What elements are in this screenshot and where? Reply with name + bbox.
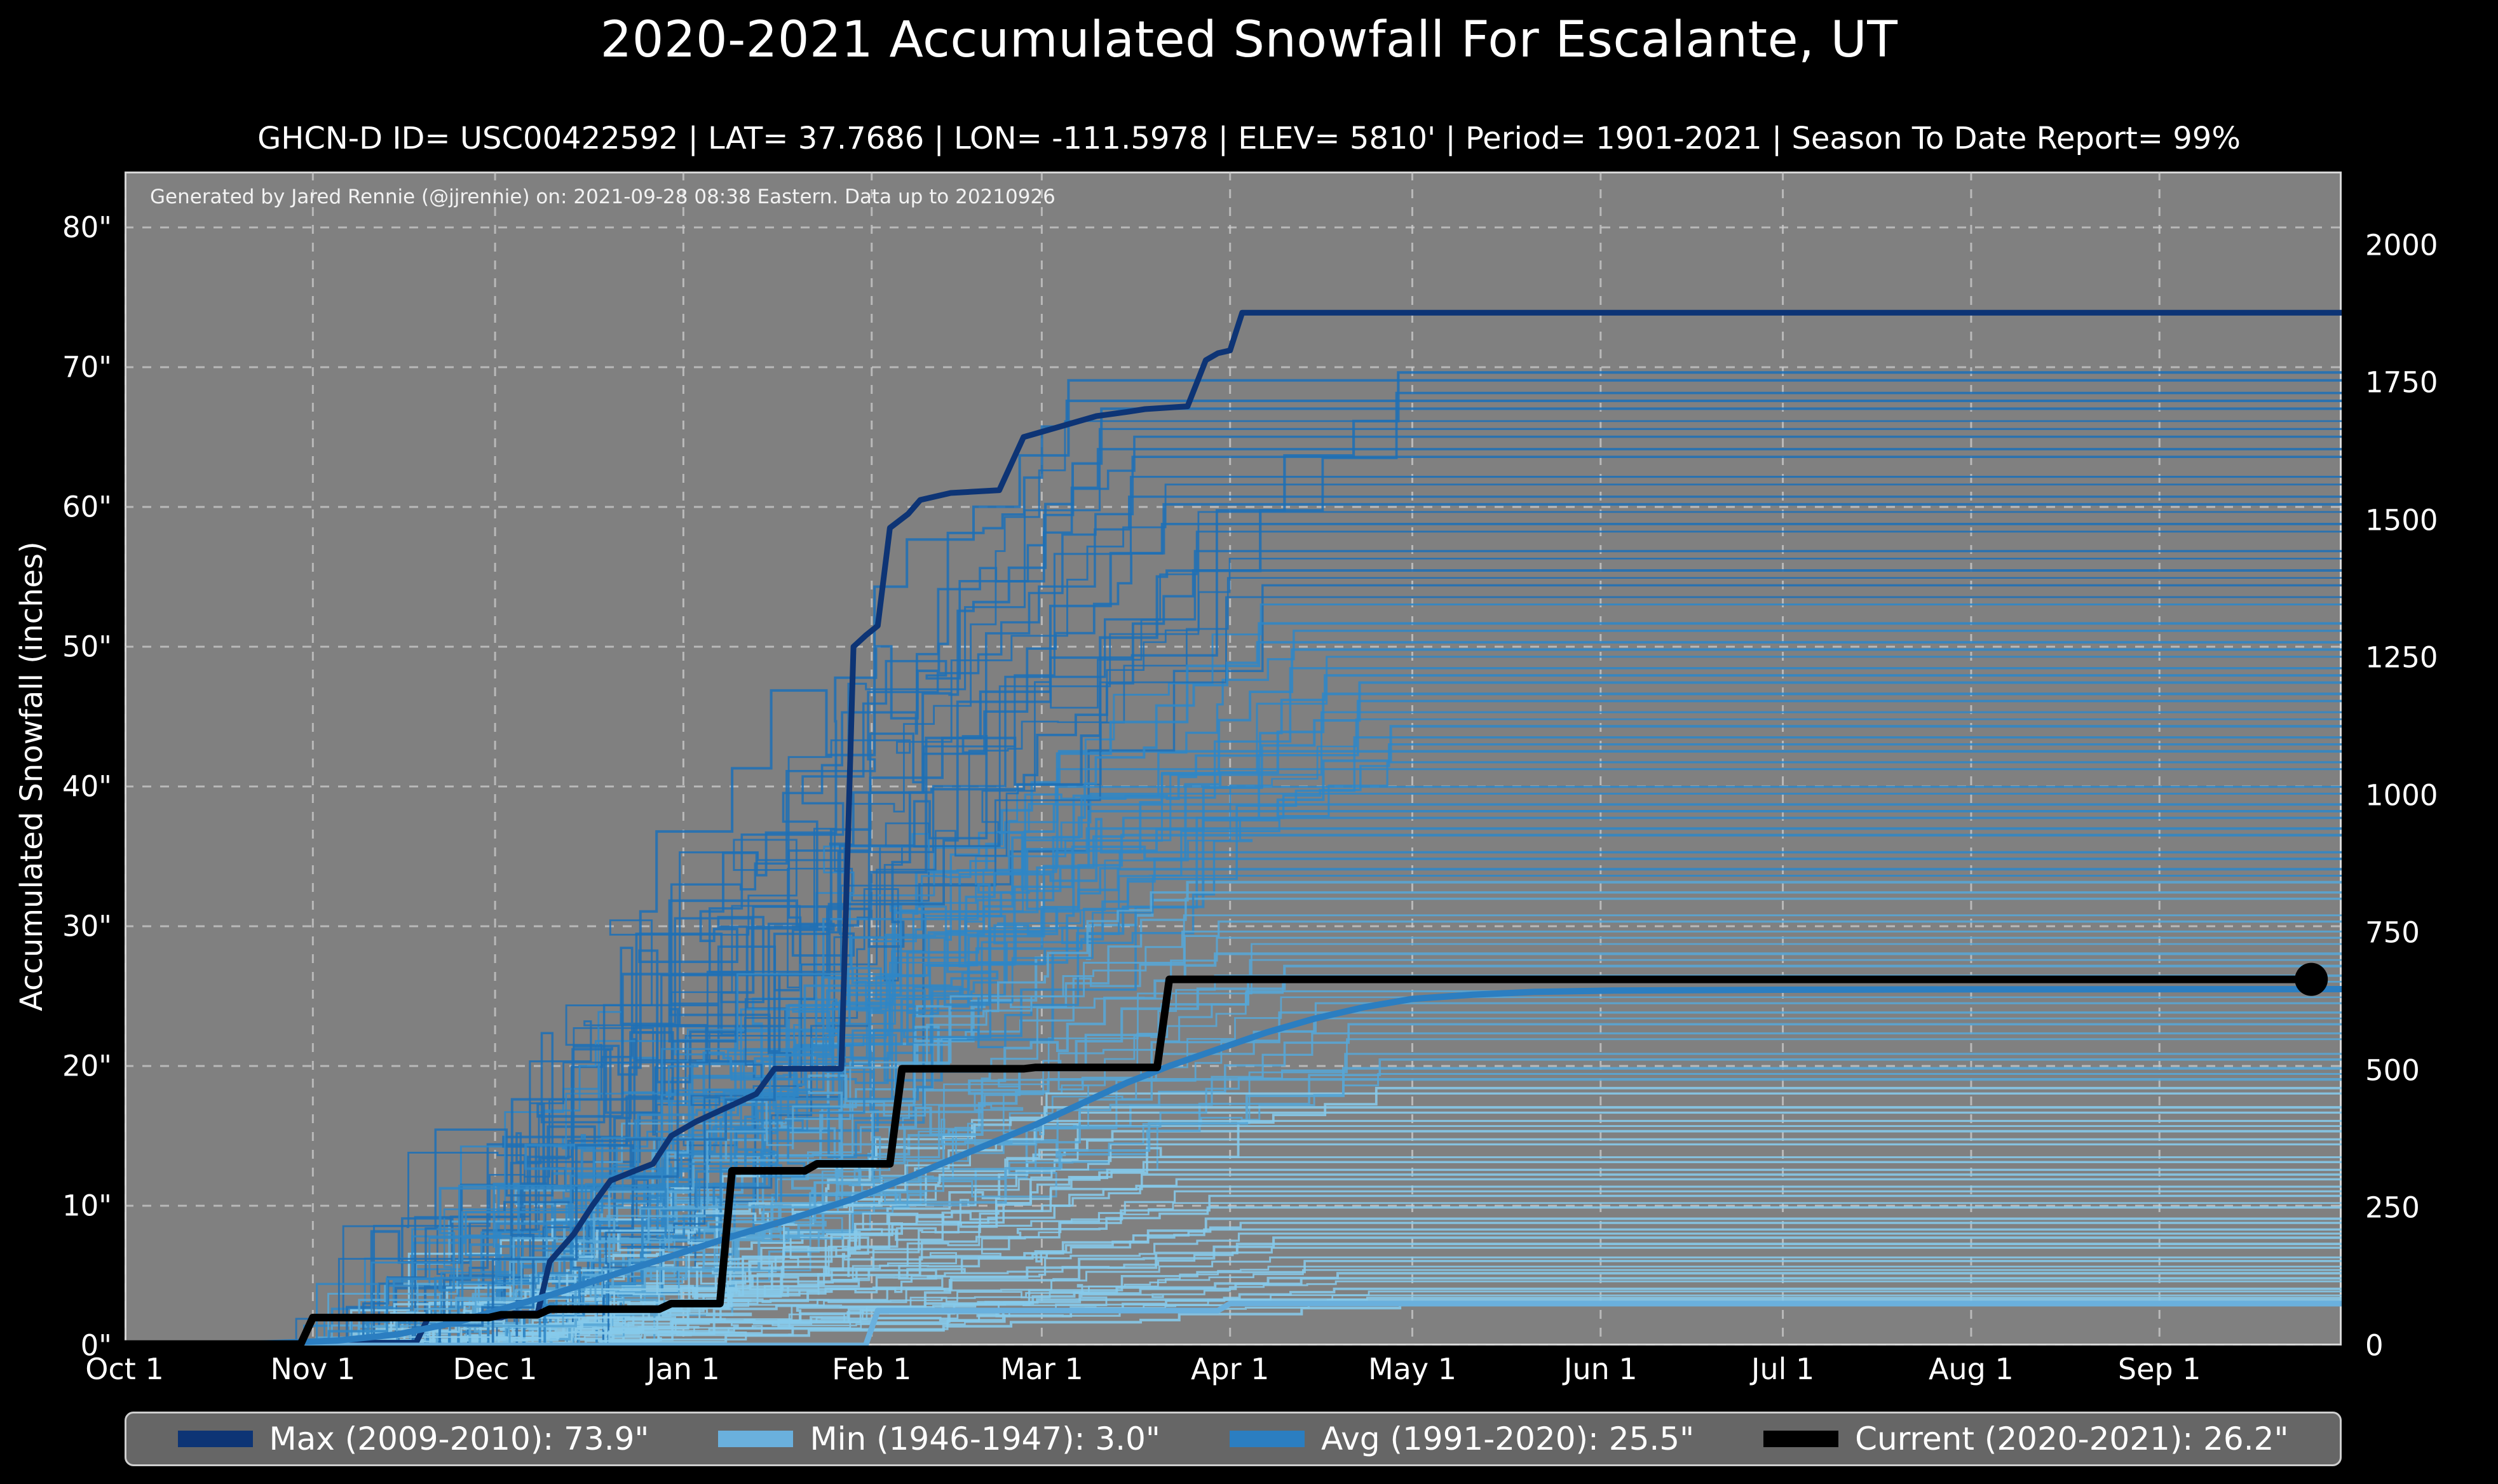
y-tick-left-80: 80" xyxy=(62,211,112,245)
legend-label-max: Max (2009-2010): 73.9" xyxy=(269,1420,649,1457)
y-tick-right-1500: 1500 xyxy=(2365,503,2438,537)
chart-legend: Max (2009-2010): 73.9"Min (1946-1947): 3… xyxy=(125,1412,2342,1466)
y-tick-right-1250: 1250 xyxy=(2365,641,2438,675)
x-tick-jul-1: Jul 1 xyxy=(1751,1352,1814,1386)
x-tick-jan-1: Jan 1 xyxy=(647,1352,720,1386)
y-tick-left-40: 40" xyxy=(62,770,112,804)
x-tick-sep-1: Sep 1 xyxy=(2118,1352,2201,1386)
y-tick-left-50: 50" xyxy=(62,630,112,664)
y-tick-left-20: 20" xyxy=(62,1049,112,1083)
x-tick-nov-1: Nov 1 xyxy=(270,1352,355,1386)
legend-label-min: Min (1946-1947): 3.0" xyxy=(810,1420,1160,1457)
chart-subtitle: GHCN-D ID= USC00422592 | LAT= 37.7686 | … xyxy=(0,121,2498,156)
y-axis-left-title: Accumulated Snowfall (inches) xyxy=(14,535,50,1018)
y-axis-right: 025050075010001250150017502000 xyxy=(2351,0,2498,1484)
y-tick-right-1750: 1750 xyxy=(2365,366,2438,400)
y-tick-left-30: 30" xyxy=(62,910,112,943)
x-tick-jun-1: Jun 1 xyxy=(1564,1352,1638,1386)
historical-season-traces xyxy=(125,372,2342,1346)
current-end-marker xyxy=(2295,963,2328,996)
legend-item-min[interactable]: Min (1946-1947): 3.0" xyxy=(718,1420,1160,1457)
legend-swatch-max xyxy=(178,1431,253,1447)
plot-area: Generated by Jared Rennie (@jjrennie) on… xyxy=(125,172,2342,1346)
legend-swatch-min xyxy=(718,1431,793,1447)
y-tick-right-500: 500 xyxy=(2365,1053,2420,1087)
legend-item-current[interactable]: Current (2020-2021): 26.2" xyxy=(1763,1420,2288,1457)
y-tick-right-250: 250 xyxy=(2365,1191,2420,1225)
legend-swatch-current xyxy=(1763,1431,1838,1447)
y-tick-right-2000: 2000 xyxy=(2365,228,2438,262)
x-tick-oct-1: Oct 1 xyxy=(85,1352,163,1386)
legend-item-avg[interactable]: Avg (1991-2020): 25.5" xyxy=(1230,1420,1694,1457)
x-tick-aug-1: Aug 1 xyxy=(1929,1352,2014,1386)
credit-text: Generated by Jared Rennie (@jjrennie) on… xyxy=(150,185,1056,208)
chart-canvas xyxy=(125,172,2342,1346)
legend-swatch-avg xyxy=(1230,1431,1305,1447)
y-tick-left-60: 60" xyxy=(62,490,112,524)
x-tick-mar-1: Mar 1 xyxy=(1000,1352,1083,1386)
y-tick-left-70: 70" xyxy=(62,351,112,384)
x-tick-apr-1: Apr 1 xyxy=(1191,1352,1269,1386)
x-tick-feb-1: Feb 1 xyxy=(832,1352,911,1386)
y-tick-right-750: 750 xyxy=(2365,916,2420,950)
x-tick-may-1: May 1 xyxy=(1368,1352,1456,1386)
y-tick-right-0: 0 xyxy=(2365,1329,2384,1363)
legend-item-max[interactable]: Max (2009-2010): 73.9" xyxy=(178,1420,649,1457)
legend-label-avg: Avg (1991-2020): 25.5" xyxy=(1321,1420,1694,1457)
x-tick-dec-1: Dec 1 xyxy=(453,1352,538,1386)
legend-label-current: Current (2020-2021): 26.2" xyxy=(1855,1420,2288,1457)
y-tick-right-1000: 1000 xyxy=(2365,778,2438,812)
chart-title: 2020-2021 Accumulated Snowfall For Escal… xyxy=(0,11,2498,69)
y-tick-left-10: 10" xyxy=(62,1189,112,1223)
